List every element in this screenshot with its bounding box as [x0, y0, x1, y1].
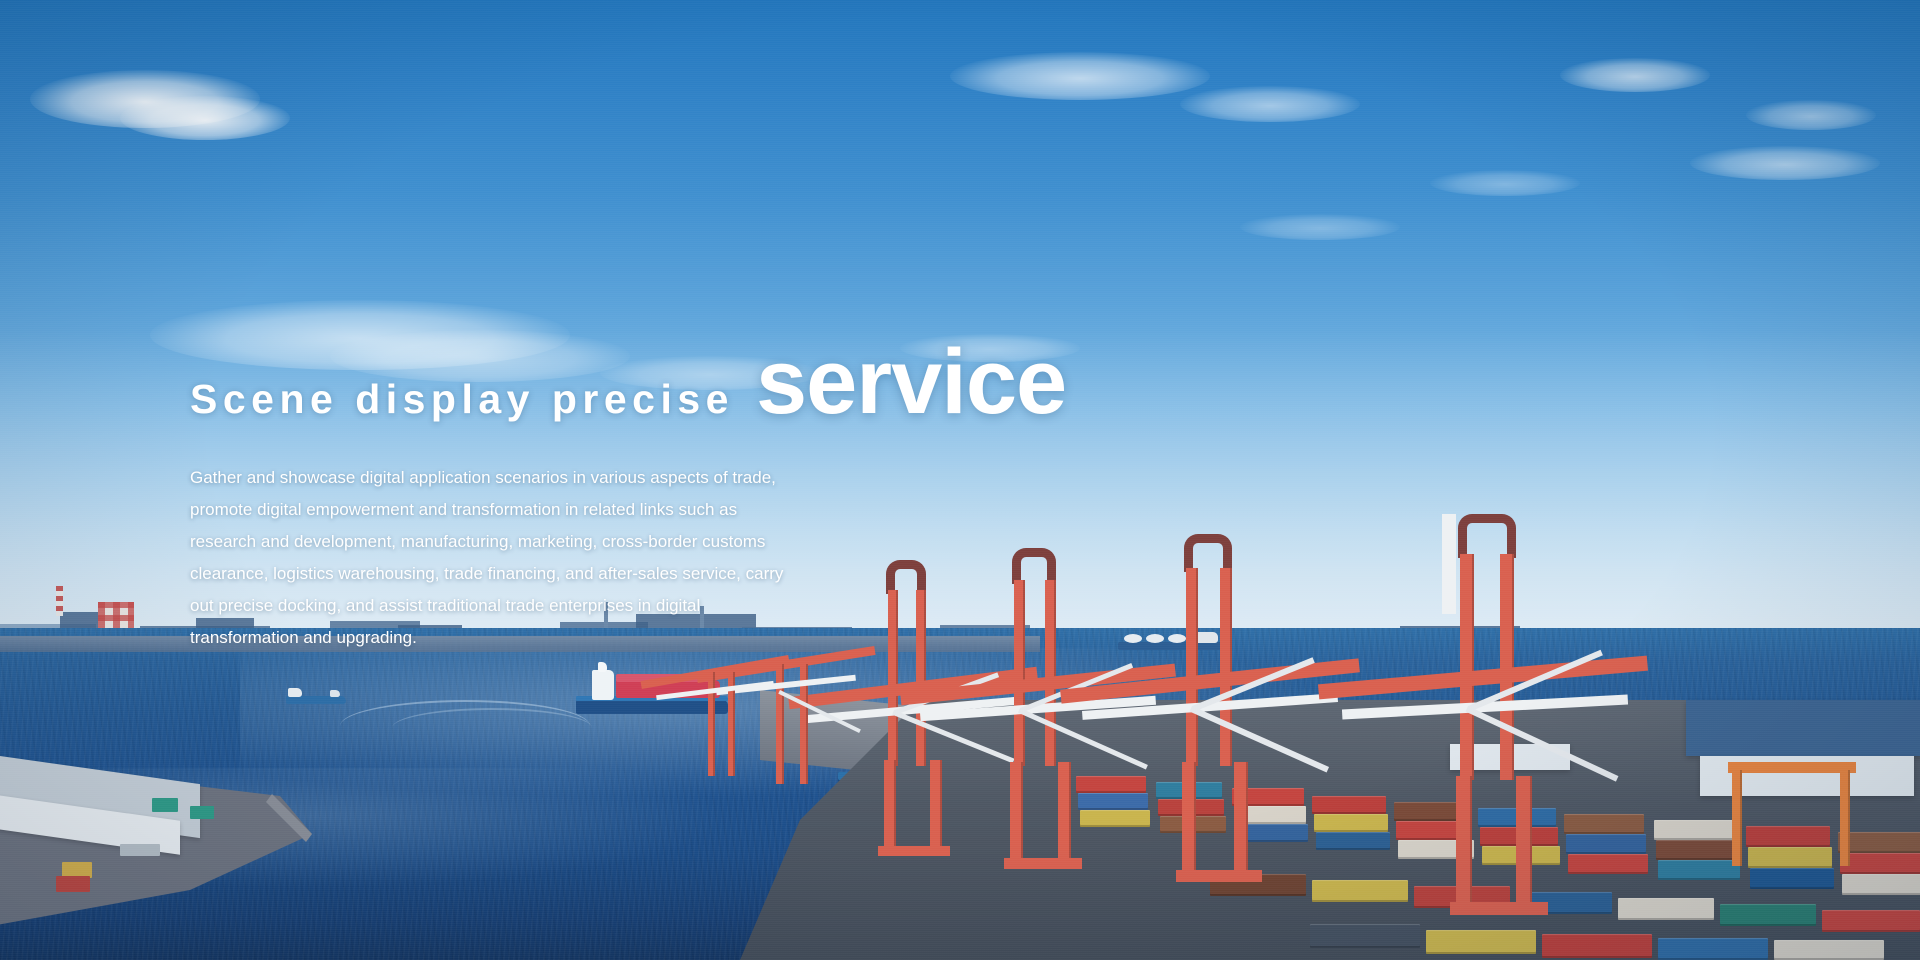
pier-container — [56, 876, 90, 892]
terminal-building — [1686, 700, 1920, 756]
container-stack — [1618, 898, 1714, 920]
container-stack — [1840, 853, 1920, 874]
pier-container — [190, 806, 214, 819]
container-stack — [1310, 924, 1420, 948]
container-stack — [1842, 874, 1920, 895]
container-stack — [1774, 940, 1884, 960]
container-stack — [1748, 847, 1832, 868]
container-stack — [1314, 814, 1388, 832]
pier-container — [120, 844, 160, 856]
container-stack — [1654, 820, 1736, 840]
page-title-accent: service — [756, 336, 1066, 428]
container-stack — [1720, 904, 1816, 926]
pier-container — [152, 798, 178, 812]
container-stack — [1312, 796, 1386, 814]
container-stack — [1838, 832, 1920, 853]
headline-row: Scene display precise service — [190, 336, 790, 428]
container-stack — [1426, 930, 1536, 954]
container-stack — [1750, 868, 1834, 889]
container-stack — [1080, 810, 1150, 827]
container-stack — [1658, 860, 1740, 880]
hero-banner: Scene display precise service Gather and… — [0, 0, 1920, 960]
container-stack — [1078, 793, 1148, 810]
hero-description: Gather and showcase digital application … — [190, 462, 790, 654]
container-stack — [1076, 776, 1146, 793]
page-title: Scene display precise — [190, 379, 734, 420]
container-stack — [1312, 880, 1408, 902]
hero-copy-block: Scene display precise service Gather and… — [190, 336, 790, 654]
container-stack — [1658, 938, 1768, 960]
container-stack — [1566, 834, 1646, 854]
container-stack — [1568, 854, 1648, 874]
ship-wake — [392, 708, 592, 748]
container-stack — [1822, 910, 1920, 932]
container-stack — [1746, 826, 1830, 847]
container-stack — [1564, 814, 1644, 834]
container-stack — [1316, 832, 1390, 850]
gantry-crane — [1442, 514, 1456, 614]
container-stack — [1656, 840, 1738, 860]
container-stack — [1542, 934, 1652, 958]
